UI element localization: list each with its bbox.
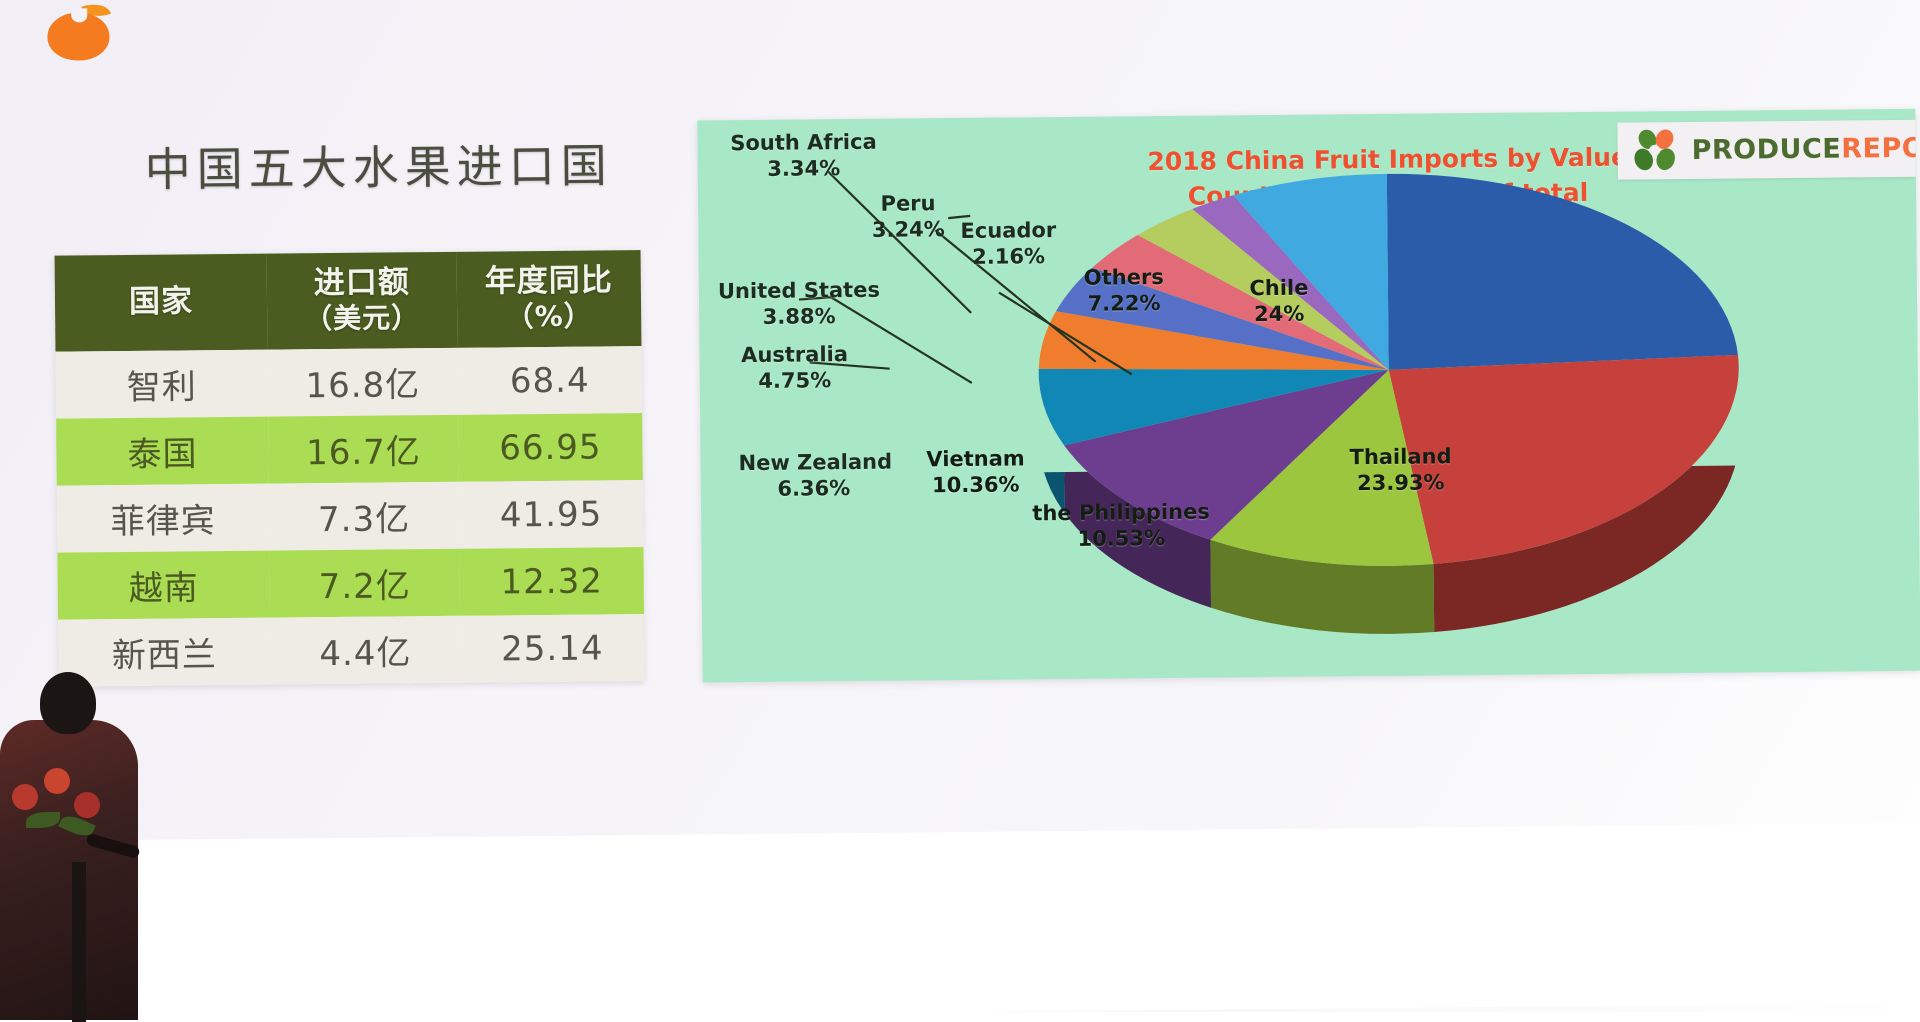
page-title: 中国五大水果进口国 [144,129,613,199]
pie-label-thailand-name: Thailand [1349,444,1451,469]
pie-label-chile-name: Chile [1249,276,1308,301]
screen-bottom-edge [3,823,1920,1021]
table-header-yoy-label: 年度同比 [485,262,613,299]
pie-label-peru-name: Peru [880,191,935,216]
cell-country: 智利 [55,350,268,419]
projected-slide: 中国五大水果进口国 国家 进口额 （美元） 年度同比 （%） [0,0,1920,1012]
table-row: 越南 7.2亿 12.32 [57,547,644,620]
pie-label-others: Others 7.22% [1049,264,1199,317]
pie-label-south-africa-value: 3.34% [767,156,840,181]
pie-label-australia: Australia 4.75% [709,341,879,395]
cell-country: 菲律宾 [57,484,270,553]
cell-country: 泰国 [56,417,269,486]
audience-silhouette [0,672,150,1012]
table-row: 泰国 16.7亿 66.95 [56,413,643,486]
table-header-value-label: 进口额 [314,264,410,301]
apple-icon [43,8,116,63]
cell-yoy: 25.14 [460,614,645,683]
cell-value: 7.2亿 [269,549,460,618]
pie-label-united-states-name: United States [718,278,880,304]
pie-label-vietnam-name: Vietnam [926,446,1025,471]
pie-label-new-zealand: New Zealand 6.36% [738,449,888,502]
cell-yoy: 68.4 [457,346,642,415]
imports-table: 国家 进口额 （美元） 年度同比 （%） 智利 16.8亿 68.4 [55,250,645,687]
table-header-yoy: 年度同比 （%） [457,250,642,348]
pie-chart-panel: 2018 China Fruit Imports by Value Countr… [697,109,1920,683]
pie-label-ecuador-value: 2.16% [972,244,1045,269]
pie-label-new-zealand-name: New Zealand [738,450,892,475]
pie-label-vietnam: Vietnam 10.36% [890,445,1060,499]
table-header-yoy-sub: （%） [457,299,641,335]
pie-label-ecuador-name: Ecuador [960,218,1056,243]
table-header-value-sub: （美元） [267,301,457,337]
table-row: 菲律宾 7.3亿 41.95 [57,480,644,553]
table-header-value: 进口额 （美元） [267,252,458,350]
pie-label-ecuador: Ecuador 2.16% [928,217,1088,271]
cell-yoy: 12.32 [459,547,644,616]
table-header-country-label: 国家 [129,283,193,320]
table-row: 智利 16.8亿 68.4 [55,346,642,419]
cell-yoy: 66.95 [458,413,643,482]
pie-label-united-states: United States 3.88% [697,277,904,331]
table-header-row: 国家 进口额 （美元） 年度同比 （%） [55,250,642,352]
pie-label-australia-value: 4.75% [758,368,831,393]
cell-yoy: 41.95 [459,480,644,549]
pie-label-vietnam-value: 10.36% [932,472,1020,497]
cell-value: 16.7亿 [268,415,459,484]
cell-value: 16.8亿 [267,348,458,417]
pie-label-new-zealand-value: 6.36% [777,476,850,501]
pie-label-philippines: the Philippines 10.53% [1001,498,1241,552]
pie-label-chile-value: 24% [1254,302,1304,326]
cell-value: 7.3亿 [269,482,460,551]
cell-value: 4.4亿 [270,616,461,685]
pie-label-philippines-name: the Philippines [1032,500,1210,526]
pie-label-australia-name: Australia [741,342,848,367]
pie-label-chile: Chile 24% [1199,274,1359,328]
pie-label-south-africa-name: South Africa [730,130,877,155]
cell-country: 越南 [57,551,270,620]
pie-label-others-name: Others [1084,265,1164,290]
table-header-country: 国家 [55,254,268,352]
pie-label-philippines-value: 10.53% [1077,526,1165,551]
pie-label-others-value: 7.22% [1088,291,1161,316]
pie-label-thailand: Thailand 23.93% [1300,443,1500,497]
pie-label-thailand-value: 23.93% [1357,470,1445,495]
pie-label-south-africa: South Africa 3.34% [703,129,903,183]
table-body: 智利 16.8亿 68.4 泰国 16.7亿 66.95 菲律宾 7.3亿 41… [55,346,644,687]
pie-label-united-states-value: 3.88% [763,304,836,329]
